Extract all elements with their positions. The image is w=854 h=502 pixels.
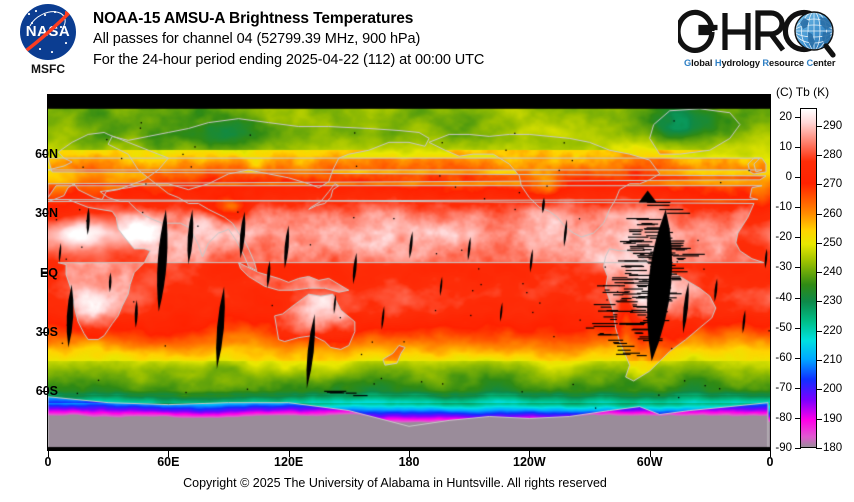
- colorbar-tick-kelvin: [816, 389, 822, 390]
- y-axis-label: EQ: [40, 266, 58, 280]
- x-axis-label: 60E: [157, 455, 179, 469]
- colorbar-label-kelvin: 280: [823, 149, 842, 161]
- subtitle-period: For the 24-hour period ending 2025-04-22…: [93, 50, 673, 71]
- x-axis-label: 120W: [513, 455, 546, 469]
- colorbar-label-celsius: -90: [758, 442, 792, 454]
- colorbar-label-celsius: 10: [758, 141, 792, 153]
- colorbar-label-celsius: -60: [758, 352, 792, 364]
- ghrc-acronym-icon: [678, 8, 846, 60]
- colorbar-label-kelvin: 200: [823, 383, 842, 395]
- colorbar-tick-kelvin: [816, 301, 822, 302]
- colorbar-header: (C) Tb (K): [776, 85, 854, 99]
- x-axis-label: 0: [767, 455, 774, 469]
- colorbar-label-celsius: -40: [758, 292, 792, 304]
- colorbar-tick-kelvin: [816, 184, 822, 185]
- colorbar-label-celsius: 0: [758, 171, 792, 183]
- colorbar-tick-celsius: [795, 418, 801, 419]
- x-axis-label: 120E: [274, 455, 303, 469]
- colorbar-label-kelvin: 240: [823, 266, 842, 278]
- subtitle-channel: All passes for channel 04 (52799.39 MHz,…: [93, 29, 673, 50]
- colorbar-tick-kelvin: [816, 448, 822, 449]
- colorbar-label-celsius: -70: [758, 382, 792, 394]
- ghrc-tagline-part: enter: [813, 58, 835, 68]
- colorbar-tick-celsius: [795, 298, 801, 299]
- colorbar-tick-celsius: [795, 117, 801, 118]
- y-axis-label: 60N: [35, 147, 58, 161]
- colorbar-tick-kelvin: [816, 243, 822, 244]
- colorbar-label-kelvin: 190: [823, 413, 842, 425]
- colorbar-tick-celsius: [795, 328, 801, 329]
- colorbar-tick-kelvin: [816, 331, 822, 332]
- colorbar-tick-celsius: [795, 207, 801, 208]
- ghrc-tagline-part: lobal: [691, 58, 715, 68]
- colorbar-label-kelvin: 270: [823, 178, 842, 190]
- colorbar-label-celsius: -30: [758, 261, 792, 273]
- map-heatmap-canvas[interactable]: [48, 95, 770, 450]
- colorbar-tick-celsius: [795, 448, 801, 449]
- colorbar-tick-kelvin: [816, 155, 822, 156]
- colorbar-gradient[interactable]: [800, 108, 817, 448]
- ghrc-tagline-part: ydrology: [721, 58, 762, 68]
- nasa-insignia-icon: NASA: [20, 4, 76, 60]
- ghrc-logo: Global Hydrology Resource Center: [678, 8, 846, 80]
- colorbar-label-kelvin: 290: [823, 120, 842, 132]
- colorbar-tick-celsius: [795, 267, 801, 268]
- page-title: NOAA-15 AMSU-A Brightness Temperatures: [93, 8, 673, 29]
- colorbar-tick-kelvin: [816, 126, 822, 127]
- colorbar-tick-kelvin: [816, 214, 822, 215]
- colorbar-tick-kelvin: [816, 419, 822, 420]
- ghrc-tagline-part: esource: [769, 58, 806, 68]
- colorbar-label-celsius: -20: [758, 231, 792, 243]
- colorbar-tick-celsius: [795, 177, 801, 178]
- colorbar-tick-celsius: [795, 237, 801, 238]
- colorbar-tick-celsius: [795, 388, 801, 389]
- y-axis-label: 30N: [35, 206, 58, 220]
- y-axis-label: 60S: [36, 384, 58, 398]
- colorbar-label-celsius: -50: [758, 322, 792, 334]
- header: NASA MSFC NOAA-15 AMSU-A Brightness Temp…: [0, 0, 854, 86]
- x-axis-label: 180: [399, 455, 420, 469]
- colorbar-tick-kelvin: [816, 360, 822, 361]
- x-axis-label: 60W: [637, 455, 663, 469]
- colorbar-tick-kelvin: [816, 272, 822, 273]
- colorbar-label-celsius: -10: [758, 201, 792, 213]
- title-block: NOAA-15 AMSU-A Brightness Temperatures A…: [93, 8, 673, 71]
- y-axis-label: 30S: [36, 325, 58, 339]
- colorbar-label-kelvin: 220: [823, 325, 842, 337]
- colorbar-label-kelvin: 260: [823, 208, 842, 220]
- copyright-notice: Copyright © 2025 The University of Alaba…: [0, 476, 790, 490]
- nasa-logo: NASA MSFC: [10, 4, 86, 82]
- colorbar-tick-celsius: [795, 358, 801, 359]
- ghrc-tagline: Global Hydrology Resource Center: [684, 58, 844, 74]
- colorbar-label-kelvin: 210: [823, 354, 842, 366]
- colorbar-label-kelvin: 250: [823, 237, 842, 249]
- colorbar-label-kelvin: 230: [823, 295, 842, 307]
- colorbar-tick-celsius: [795, 147, 801, 148]
- colorbar-label-celsius: 20: [758, 111, 792, 123]
- colorbar-label-kelvin: 180: [823, 442, 842, 454]
- colorbar-label-celsius: -80: [758, 412, 792, 424]
- nasa-center-label: MSFC: [10, 62, 86, 76]
- brightness-temperature-map[interactable]: [48, 95, 770, 450]
- nasa-swoosh-icon: [21, 7, 75, 57]
- x-axis-label: 0: [45, 455, 52, 469]
